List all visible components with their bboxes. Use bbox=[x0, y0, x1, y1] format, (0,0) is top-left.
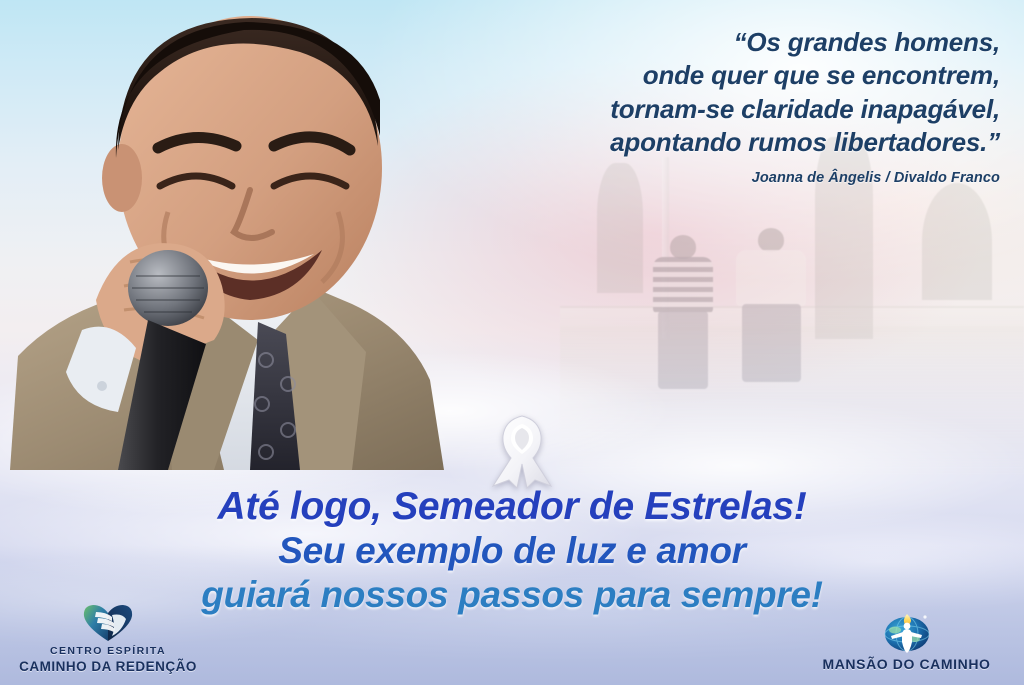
quote-attribution: Joanna de Ângelis / Divaldo Franco bbox=[430, 170, 1000, 186]
headline-line-2: Seu exemplo de luz e amor bbox=[0, 532, 1024, 569]
heart-hands-icon bbox=[82, 603, 134, 643]
logo-left-line-2: CAMINHO DA REDENÇÃO bbox=[19, 659, 197, 675]
mourning-ribbon-icon bbox=[483, 408, 561, 490]
memorial-poster: “Os grandes homens, onde quer que se enc… bbox=[0, 0, 1024, 685]
headline-line-1: Até logo, Semeador de Estrelas! bbox=[0, 487, 1024, 526]
logo-left-line-1: CENTRO ESPÍRITA bbox=[50, 645, 166, 657]
quote-line-2: onde quer que se encontrem, bbox=[430, 59, 1000, 92]
quote-line-1: “Os grandes homens, bbox=[430, 26, 1000, 59]
quote-line-4: apontando rumos libertadores.” bbox=[430, 126, 1000, 159]
portrait-photo bbox=[0, 0, 470, 470]
logo-centro-espirita-caminho-da-redencao: CENTRO ESPÍRITA CAMINHO DA REDENÇÃO bbox=[8, 603, 208, 675]
globe-figure-flame-icon bbox=[882, 610, 932, 654]
logo-right-line-1: MANSÃO DO CAMINHO bbox=[822, 656, 990, 673]
headline-block: Até logo, Semeador de Estrelas! Seu exem… bbox=[0, 487, 1024, 613]
quote-text: “Os grandes homens, onde quer que se enc… bbox=[430, 26, 1000, 159]
quote-line-3: tornam-se claridade inapagável, bbox=[430, 93, 1000, 126]
logo-mansao-do-caminho: MANSÃO DO CAMINHO bbox=[799, 610, 1014, 673]
